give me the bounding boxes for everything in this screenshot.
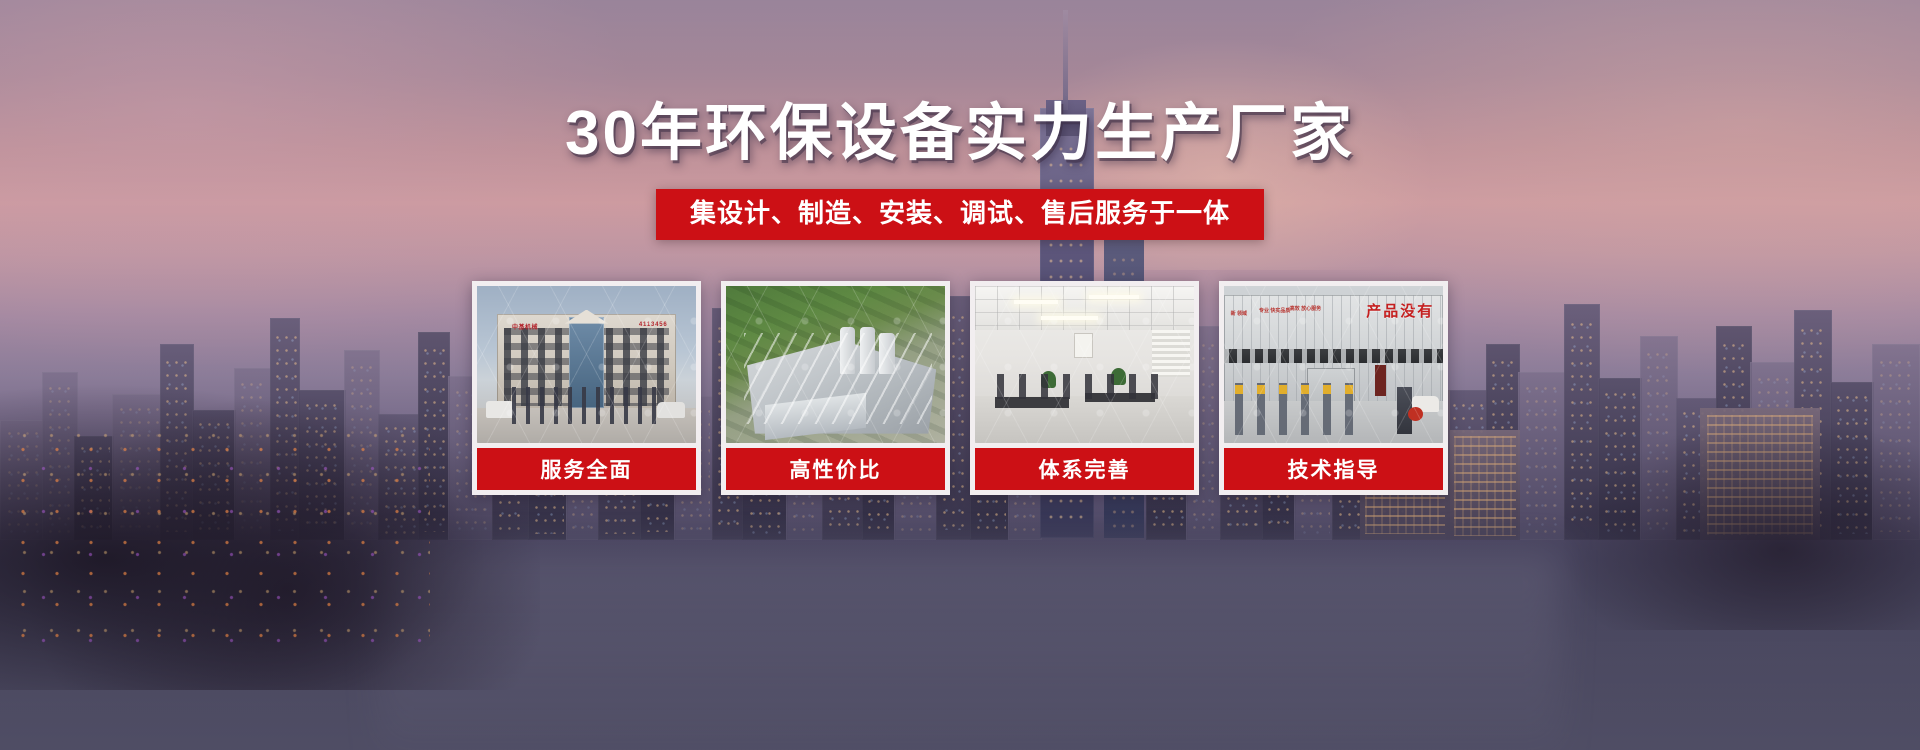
feature-card[interactable]: 中基机械 4113456 服务全面 xyxy=(472,281,701,495)
banner-content: 30年环保设备实力生产厂家 集设计、制造、安装、调试、售后服务于一体 中基机械 … xyxy=(0,0,1920,750)
feature-card[interactable]: 产品没有 新 领域 专业 快实品质 高效 放心服务 技术指导 xyxy=(1219,281,1448,495)
feature-card-caption-text: 高性价比 xyxy=(790,454,882,484)
factory-workshop-workers-photo: 产品没有 新 领域 专业 快实品质 高效 放心服务 xyxy=(1224,286,1443,443)
building-phone-sign: 4113456 xyxy=(639,322,668,328)
feature-card-caption: 服务全面 xyxy=(477,448,696,490)
office-interior-staff-photo xyxy=(975,286,1194,443)
aerial-factory-plant-photo xyxy=(726,286,945,443)
factory-wall-slogan-1: 新 领域 xyxy=(1231,311,1247,318)
feature-card-caption-text: 技术指导 xyxy=(1288,454,1380,484)
building-company-sign: 中基机械 xyxy=(512,322,538,331)
banner-subtitle-text: 集设计、制造、安装、调试、售后服务于一体 xyxy=(690,198,1230,229)
feature-card-caption: 体系完善 xyxy=(975,448,1194,490)
feature-card[interactable]: 体系完善 xyxy=(970,281,1199,495)
factory-wall-banner-text: 产品没有 xyxy=(1366,300,1434,321)
feature-card-row: 中基机械 4113456 服务全面 xyxy=(472,281,1448,495)
feature-card-caption-text: 服务全面 xyxy=(541,454,633,484)
feature-card-caption-text: 体系完善 xyxy=(1039,454,1131,484)
company-office-building-photo: 中基机械 4113456 xyxy=(477,286,696,443)
hero-banner: 30年环保设备实力生产厂家 集设计、制造、安装、调试、售后服务于一体 中基机械 … xyxy=(0,0,1920,750)
banner-subtitle-bar: 集设计、制造、安装、调试、售后服务于一体 xyxy=(656,189,1264,240)
feature-card-caption: 技术指导 xyxy=(1224,448,1443,490)
feature-card[interactable]: 高性价比 xyxy=(721,281,950,495)
feature-card-caption: 高性价比 xyxy=(726,448,945,490)
factory-wall-slogan-3: 高效 放心服务 xyxy=(1290,306,1321,313)
factory-wall-slogan-2: 专业 快实品质 xyxy=(1259,308,1290,315)
banner-headline: 30年环保设备实力生产厂家 xyxy=(0,103,1920,165)
